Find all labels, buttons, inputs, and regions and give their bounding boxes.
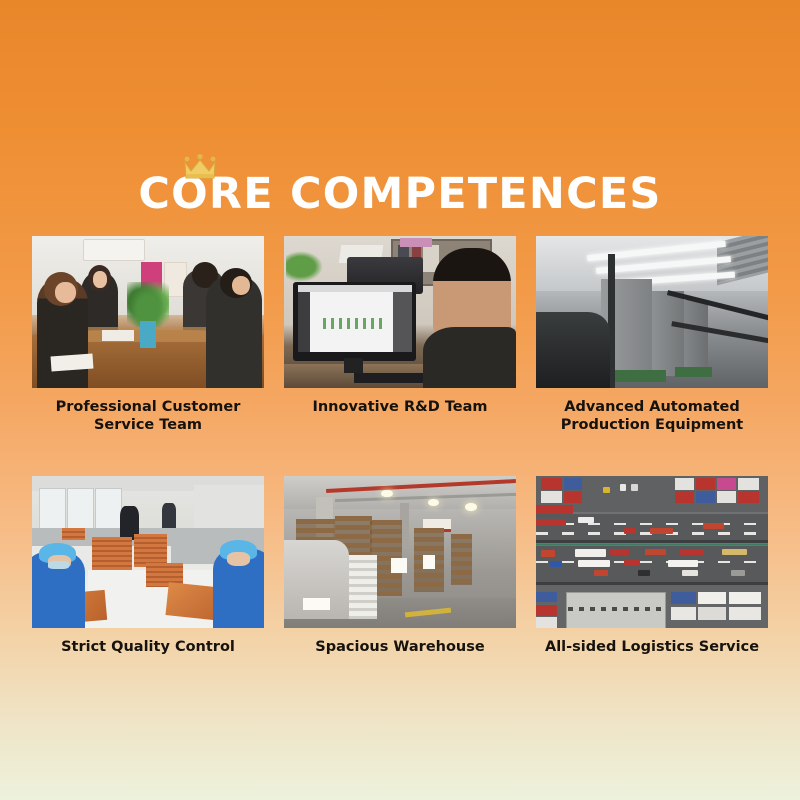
competence-card-innovative-rd-team[interactable]: Innovative R&D Team	[284, 236, 516, 434]
title-block: CORE COMPETENCES	[0, 150, 800, 220]
caption-innovative-rd-team: Innovative R&D Team	[284, 398, 516, 416]
caption-line-2: Production Equipment	[561, 417, 743, 433]
photo-advanced-automated-production-equipment	[536, 236, 768, 388]
competence-card-advanced-automated-production-equipment[interactable]: Advanced Automated Production Equipment	[536, 236, 768, 434]
competence-card-spacious-warehouse[interactable]: Spacious Warehouse	[284, 476, 516, 656]
photo-all-sided-logistics-service	[536, 476, 768, 628]
photo-spacious-warehouse	[284, 476, 516, 628]
competence-card-all-sided-logistics-service[interactable]: All-sided Logistics Service	[536, 476, 768, 656]
caption-line-1: All-sided Logistics Service	[545, 639, 759, 655]
caption-spacious-warehouse: Spacious Warehouse	[284, 638, 516, 656]
competence-card-strict-quality-control[interactable]: Strict Quality Control	[32, 476, 264, 656]
crown-icon	[183, 154, 217, 180]
photo-professional-customer-service-team	[32, 236, 264, 388]
competences-grid: Professional Customer Service Team Innov…	[32, 236, 768, 656]
photo-innovative-rd-team	[284, 236, 516, 388]
caption-line-2: Service Team	[94, 417, 202, 433]
core-competences-banner: CORE COMPETENCES Professional Customer S…	[0, 0, 800, 800]
photo-strict-quality-control	[32, 476, 264, 628]
caption-strict-quality-control: Strict Quality Control	[32, 638, 264, 656]
competence-card-professional-customer-service-team[interactable]: Professional Customer Service Team	[32, 236, 264, 434]
caption-professional-customer-service-team: Professional Customer Service Team	[32, 398, 264, 434]
caption-line-1: Innovative R&D Team	[312, 399, 487, 415]
page-title: CORE COMPETENCES	[0, 150, 800, 220]
caption-line-1: Professional Customer	[56, 399, 241, 415]
caption-line-1: Strict Quality Control	[61, 639, 235, 655]
caption-advanced-automated-production-equipment: Advanced Automated Production Equipment	[536, 398, 768, 434]
caption-all-sided-logistics-service: All-sided Logistics Service	[536, 638, 768, 656]
caption-line-1: Advanced Automated	[564, 399, 740, 415]
caption-line-1: Spacious Warehouse	[315, 639, 484, 655]
